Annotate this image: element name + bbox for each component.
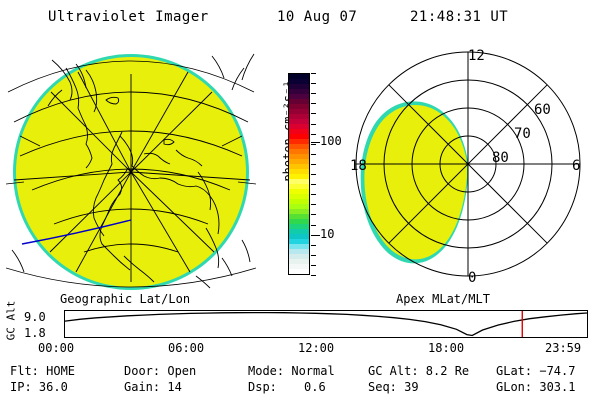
geographic-panel-caption: Geographic Lat/Lon	[60, 292, 190, 306]
mlt-label-12: 12	[468, 48, 485, 64]
time-axis-tick-label: 12:00	[298, 341, 334, 355]
status-line-1: Flt: HOMEDoor: OpenMode: NormalGC Alt: 8…	[0, 364, 600, 380]
apex-grid	[356, 52, 580, 276]
colorbar-minor-tick	[311, 113, 316, 114]
status-field: GC Alt: 8.2 Re	[368, 364, 469, 378]
status-field: GLon: 303.1	[496, 380, 575, 394]
colorbar-minor-tick	[311, 194, 316, 195]
mlt-label-6: 6	[572, 158, 580, 174]
status-field: 0.6	[304, 380, 326, 394]
header-bar: Ultraviolet Imager 10 Aug 07 21:48:31 UT	[0, 6, 600, 28]
altitude-axis-label: GC Alt	[5, 298, 18, 344]
colorbar-minor-tick	[311, 93, 316, 94]
colorbar-minor-tick	[311, 164, 316, 165]
colorbar-minor-tick	[311, 103, 316, 104]
mlat-label-60: 60	[534, 102, 551, 118]
apex-dial-svg: 12 18 6 0 60 70 80	[340, 44, 592, 292]
altitude-curve	[65, 313, 587, 336]
colorbar-major-tick	[311, 142, 320, 144]
altitude-tick-high: 9.0	[24, 310, 46, 324]
status-field: IP: 36.0	[10, 380, 68, 394]
time-axis-tick-label: 23:59	[545, 341, 581, 355]
colorbar-gradient[interactable]	[288, 73, 310, 275]
colorbar-minor-tick	[311, 255, 316, 256]
status-field: Flt: HOME	[10, 364, 75, 378]
colorbar-minor-tick	[311, 275, 316, 276]
colorbar-minor-tick	[311, 265, 316, 266]
mlat-label-80: 80	[492, 150, 509, 166]
colorbar-minor-tick	[311, 134, 316, 135]
altitude-strip-panel[interactable]: GC Alt 9.0 1.8	[0, 306, 600, 340]
time-axis-tick-label: 06:00	[168, 341, 204, 355]
colorbar-minor-tick	[311, 245, 316, 246]
altitude-tick-low: 1.8	[24, 326, 46, 340]
colorbar-minor-tick	[311, 184, 316, 185]
aurora-oval-patch	[361, 101, 468, 263]
geographic-map-svg	[6, 44, 256, 292]
status-field: Mode: Normal	[248, 364, 335, 378]
colorbar-minor-tick	[311, 83, 316, 84]
time-axis-tick-label: 00:00	[38, 341, 74, 355]
time-axis-tick-label: 18:00	[428, 341, 464, 355]
colorbar-minor-tick	[311, 144, 316, 145]
colorbar-tick-label: 10	[320, 228, 334, 240]
altitude-plot-box[interactable]	[64, 310, 588, 338]
colorbar-minor-tick	[311, 174, 316, 175]
mlat-label-70: 70	[514, 126, 531, 142]
status-field: GLat: −74.7	[496, 364, 575, 378]
colorbar-minor-tick	[311, 204, 316, 205]
colorbar-minor-tick	[311, 154, 316, 155]
status-field: Dsp:	[248, 380, 277, 394]
status-field: Door: Open	[124, 364, 196, 378]
colorbar-band	[289, 269, 309, 274]
colorbar-major-tick	[311, 235, 320, 237]
mlt-label-0: 0	[468, 270, 476, 286]
colorbar-minor-tick	[311, 73, 316, 74]
time-axis: 00:0006:0012:0018:0023:59	[0, 341, 600, 357]
colorbar-tick-label: 100	[320, 135, 342, 147]
header-time: 21:48:31 UT	[410, 9, 508, 25]
altitude-curve-svg	[65, 311, 587, 337]
mlt-label-18: 18	[350, 158, 367, 174]
page-title: Ultraviolet Imager	[48, 9, 209, 25]
apex-panel-caption: Apex MLat/MLT	[396, 292, 490, 306]
colorbar-minor-tick	[311, 225, 316, 226]
status-line-2: IP: 36.0Gain: 14Dsp:0.6Seq: 39GLon: 303.…	[0, 380, 600, 396]
status-field: Seq: 39	[368, 380, 419, 394]
colorbar-minor-tick	[311, 124, 316, 125]
colorbar-minor-tick	[311, 214, 316, 215]
colorbar-group: photon cm⁻²s⁻¹ 10010	[264, 60, 336, 292]
header-date: 10 Aug 07	[277, 9, 357, 25]
apex-mlat-mlt-panel[interactable]: 12 18 6 0 60 70 80	[340, 44, 592, 292]
status-field: Gain: 14	[124, 380, 182, 394]
geographic-map-panel[interactable]	[6, 44, 256, 292]
